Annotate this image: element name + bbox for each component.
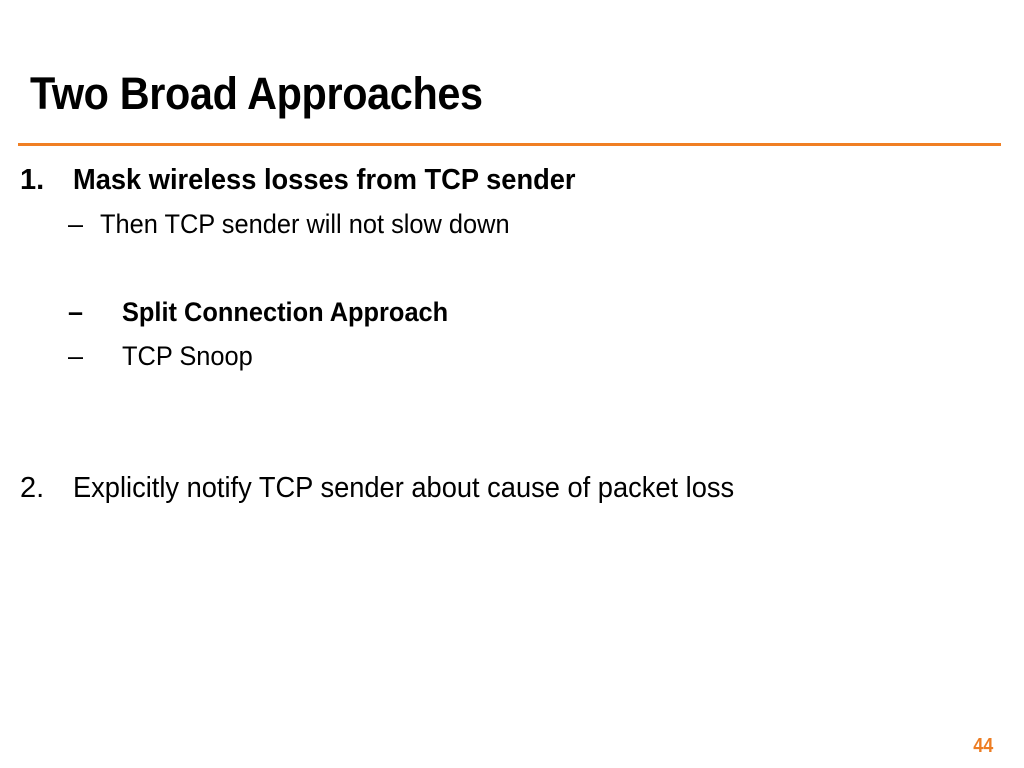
blank-line bbox=[0, 246, 1024, 290]
list-item: –TCP Snoop bbox=[0, 334, 1024, 378]
list-item-label: Mask wireless losses from TCP sender bbox=[73, 158, 576, 202]
list-item: –Split Connection Approach bbox=[0, 290, 1024, 334]
list-item-label: Explicitly notify TCP sender about cause… bbox=[73, 466, 734, 510]
list-marker: – bbox=[68, 202, 100, 246]
list-marker: – bbox=[68, 290, 122, 334]
list-item-label: TCP Snoop bbox=[122, 334, 253, 378]
body-content: 1.Mask wireless losses from TCP sender –… bbox=[0, 158, 1024, 510]
blank-line bbox=[0, 378, 1024, 466]
list-item: 2.Explicitly notify TCP sender about cau… bbox=[0, 466, 1024, 510]
title-divider bbox=[18, 143, 1001, 146]
list-item-label: Split Connection Approach bbox=[122, 290, 448, 334]
list-item: 1.Mask wireless losses from TCP sender bbox=[0, 158, 1024, 202]
page-title: Two Broad Approaches bbox=[30, 66, 913, 122]
slide: Two Broad Approaches 1.Mask wireless los… bbox=[0, 0, 1024, 768]
list-marker: 1. bbox=[20, 158, 73, 202]
list-item: –Then TCP sender will not slow down bbox=[0, 202, 1024, 246]
list-marker: – bbox=[68, 334, 122, 378]
list-item-label: Then TCP sender will not slow down bbox=[100, 202, 510, 246]
list-marker: 2. bbox=[20, 466, 73, 510]
page-number: 44 bbox=[973, 735, 993, 757]
